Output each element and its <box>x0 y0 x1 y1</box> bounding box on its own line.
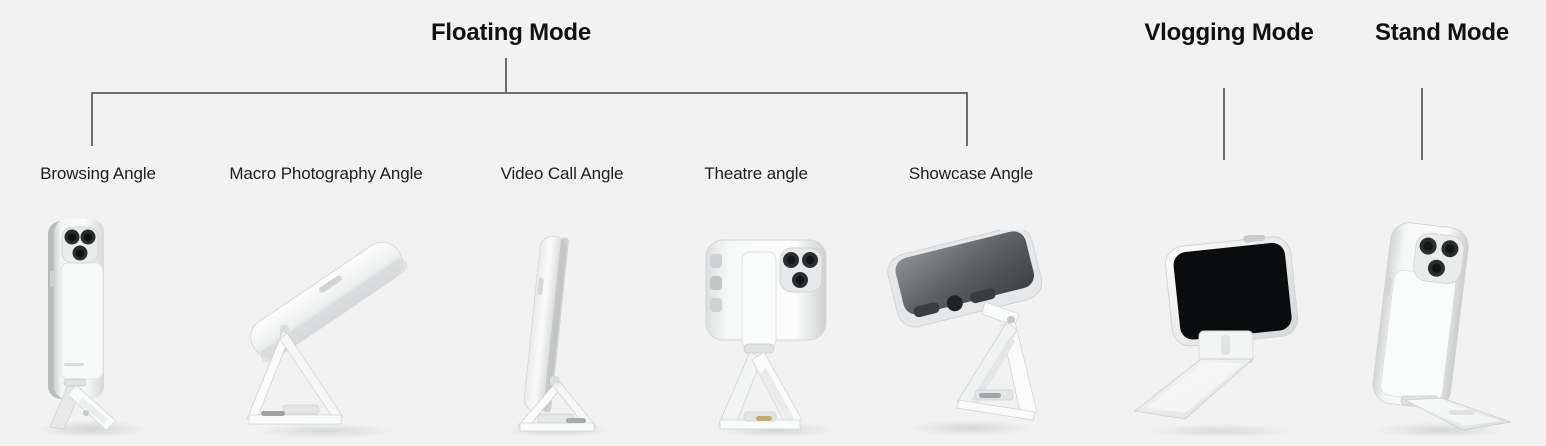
product-image-showcase-angle <box>865 230 1075 440</box>
product-image-video-call-angle <box>480 230 640 440</box>
label-video-call-angle: Video Call Angle <box>501 162 624 186</box>
product-image-theatre-angle <box>690 230 865 440</box>
connector-stem-floating-mode <box>505 58 507 92</box>
heading-stand-mode: Stand Mode <box>1375 18 1509 48</box>
connector-tick-showcase-angle <box>966 92 968 146</box>
label-theatre-angle: Theatre angle <box>704 162 808 186</box>
product-image-vlogging-mode <box>1125 235 1325 440</box>
label-macro-photography-angle: Macro Photography Angle <box>229 162 422 186</box>
connector-tick-browsing-angle <box>91 92 93 146</box>
label-showcase-angle: Showcase Angle <box>909 162 1033 186</box>
product-modes-diagram: Floating Mode Vlogging Mode Stand Mode B… <box>0 0 1546 446</box>
product-image-browsing-angle <box>20 215 195 440</box>
connector-stem-vlogging-mode <box>1223 88 1225 160</box>
heading-vlogging-mode: Vlogging Mode <box>1144 18 1313 48</box>
product-image-stand-mode <box>1345 220 1535 440</box>
product-image-macro-photography-angle <box>225 235 430 440</box>
connector-stem-stand-mode <box>1421 88 1423 160</box>
label-browsing-angle: Browsing Angle <box>40 162 156 186</box>
heading-floating-mode: Floating Mode <box>431 18 591 48</box>
connector-rail-floating-mode <box>91 92 966 94</box>
